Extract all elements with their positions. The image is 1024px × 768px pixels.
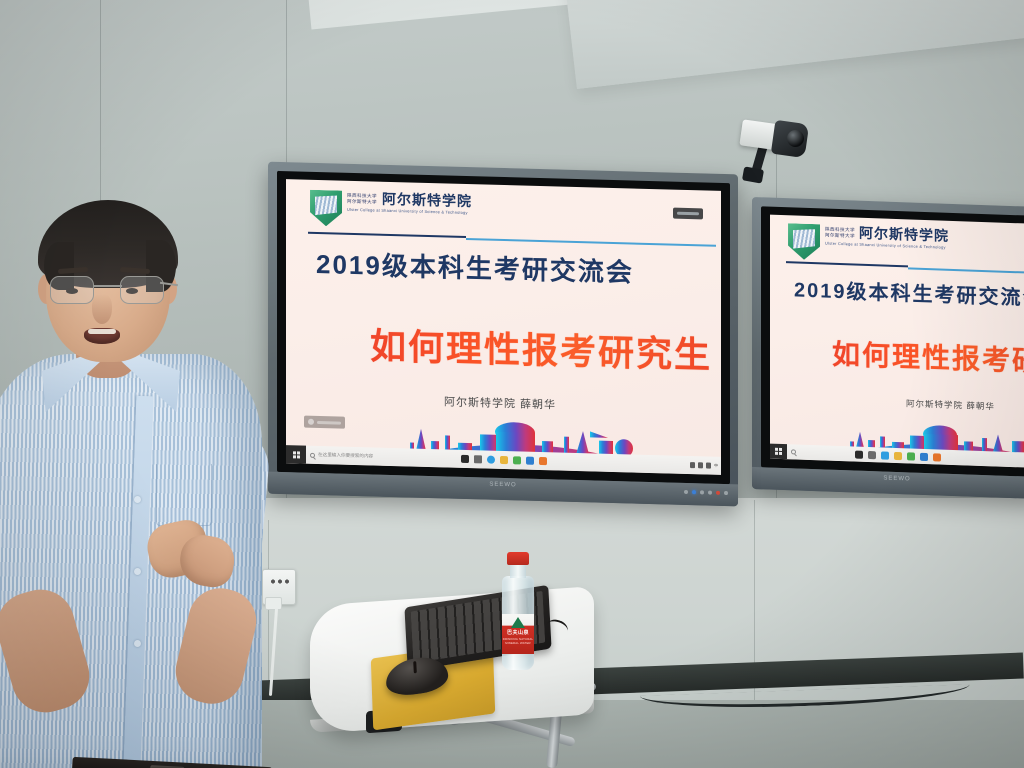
presenter-nose — [92, 294, 112, 324]
slide-corner-overlay[interactable] — [304, 416, 345, 429]
camera-lens-icon — [787, 130, 804, 147]
power-led-icon — [684, 490, 688, 494]
water-bottle: 巴夫山泉 DRINKING NATURAL MINERAL WATER — [498, 552, 538, 674]
university-shield-icon — [786, 223, 820, 260]
status-led-icon — [692, 490, 696, 494]
presentation-slide: 陕西科技大学 阿尔斯特大学 阿尔斯特学院 Ulster College at S… — [286, 179, 721, 475]
ppt-icon[interactable] — [933, 453, 941, 461]
glasses-bridge — [94, 285, 122, 287]
store-icon[interactable] — [907, 452, 915, 460]
slide-author: 阿尔斯特学院 薛朝华 — [444, 393, 556, 412]
bottle-brand-en: DRINKING NATURAL MINERAL WATER — [502, 637, 534, 645]
task-view-icon[interactable] — [868, 450, 876, 458]
display-screen[interactable]: 陕西科技大学 阿尔斯特大学 阿尔斯特学院 Ulster College at S… — [770, 215, 1024, 468]
tray-icon[interactable] — [698, 462, 703, 468]
search-icon — [791, 449, 796, 454]
shirt-button — [134, 496, 141, 503]
start-button[interactable] — [770, 444, 787, 460]
logo-rule-blue — [466, 238, 716, 247]
tray-icon[interactable] — [690, 462, 695, 468]
main-display[interactable]: 陕西科技大学 阿尔斯特大学 阿尔斯特学院 Ulster College at S… — [268, 162, 738, 507]
university-shield-icon — [308, 190, 342, 227]
glasses-lens-right — [120, 276, 164, 304]
room-scene: 陕西科技大学 阿尔斯特大学 阿尔斯特学院 Ulster College at S… — [0, 0, 1024, 768]
explorer-icon[interactable] — [894, 451, 902, 459]
mail-icon[interactable] — [920, 452, 928, 460]
slide-heading: 2019级本科生考研交流会 — [316, 244, 634, 290]
display-brand: SEEWO — [883, 476, 910, 483]
bottle-cap — [507, 552, 529, 565]
overlay-label-bar — [317, 420, 341, 424]
control-button-icon[interactable] — [708, 491, 712, 495]
slide-heading: 2019级本科生考研交流会 — [794, 273, 1024, 311]
presentation-slide: 陕西科技大学 阿尔斯特大学 阿尔斯特学院 Ulster College at S… — [770, 215, 1024, 468]
search-placeholder: 在这里输入你要搜索的内容 — [318, 452, 373, 459]
presenter-person — [0, 196, 280, 768]
toolbar-label-bar — [677, 212, 699, 216]
ppt-icon[interactable] — [539, 457, 547, 465]
tray-language[interactable]: 中 — [714, 463, 718, 469]
display-bezel: 陕西科技大学 阿尔斯特大学 阿尔斯特学院 Ulster College at S… — [277, 171, 730, 484]
logo-rule-dark — [308, 232, 466, 238]
logo-cn-line2: 阿尔斯特大学 — [825, 232, 855, 239]
start-button[interactable] — [286, 445, 306, 464]
search-icon — [310, 452, 315, 457]
slide-title: 如何理性报考研究生 — [370, 317, 712, 378]
slide-author: 阿尔斯特学院 薛朝华 — [906, 397, 995, 412]
bottle-label: 巴夫山泉 DRINKING NATURAL MINERAL WATER — [502, 614, 534, 654]
taskbar-tray[interactable]: 中 — [690, 462, 718, 469]
control-button-icon[interactable] — [716, 491, 720, 495]
explorer-icon[interactable] — [500, 456, 508, 464]
mail-icon[interactable] — [526, 457, 534, 465]
task-view-icon[interactable] — [474, 455, 482, 463]
presenter-mouth — [84, 328, 120, 344]
shirt-button — [134, 568, 141, 575]
display-controls[interactable] — [684, 490, 728, 495]
cortana-icon[interactable] — [855, 450, 863, 458]
camera-wall-mount — [742, 166, 764, 183]
security-camera — [735, 118, 825, 190]
presenter-hair — [38, 200, 178, 288]
logo-cn-line2: 阿尔斯特大学 — [347, 199, 377, 206]
control-button-icon[interactable] — [724, 491, 728, 495]
logo-rule-blue — [908, 267, 1024, 274]
store-icon[interactable] — [513, 456, 521, 464]
edge-icon[interactable] — [487, 456, 495, 464]
tray-icon[interactable] — [706, 462, 711, 468]
taskbar-app-icons[interactable] — [461, 455, 547, 465]
windows-logo-icon — [775, 448, 782, 455]
display-bezel: 陕西科技大学 阿尔斯特大学 阿尔斯特学院 Ulster College at S… — [761, 206, 1024, 477]
overlay-dot-icon — [308, 419, 314, 425]
control-button-icon[interactable] — [700, 490, 704, 494]
adjustable-desk: 巴夫山泉 DRINKING NATURAL MINERAL WATER — [310, 580, 610, 768]
slide-logo: 陕西科技大学 阿尔斯特大学 阿尔斯特学院 Ulster College at S… — [308, 190, 472, 230]
slide-logo: 陕西科技大学 阿尔斯特大学 阿尔斯特学院 Ulster College at S… — [786, 223, 949, 265]
glasses-lens-left — [50, 276, 94, 304]
mountain-icon — [511, 617, 525, 628]
bottle-brand-cn: 巴夫山泉 — [502, 629, 534, 636]
taskbar-search[interactable]: 在这里输入你要搜索的内容 — [310, 452, 373, 460]
cortana-icon[interactable] — [461, 455, 469, 463]
slide-title: 如何理性报考研究 — [832, 333, 1024, 381]
display-screen[interactable]: 陕西科技大学 阿尔斯特大学 阿尔斯特学院 Ulster College at S… — [286, 179, 721, 475]
slide-toolbar-overlay[interactable] — [673, 208, 703, 220]
logo-cn-title: 阿尔斯特学院 — [382, 192, 472, 208]
bottle-neck — [510, 564, 526, 578]
logo-cn-title: 阿尔斯特学院 — [859, 226, 949, 243]
edge-icon[interactable] — [881, 451, 889, 459]
windows-logo-icon — [293, 451, 300, 458]
taskbar-app-icons[interactable] — [855, 450, 941, 461]
taskbar-search[interactable] — [791, 449, 796, 454]
display-brand: SEEWO — [489, 482, 516, 489]
secondary-display[interactable]: 陕西科技大学 阿尔斯特大学 阿尔斯特学院 Ulster College at S… — [752, 197, 1024, 499]
presenter-shirt-pocket — [156, 464, 212, 526]
shirt-button — [134, 640, 141, 647]
